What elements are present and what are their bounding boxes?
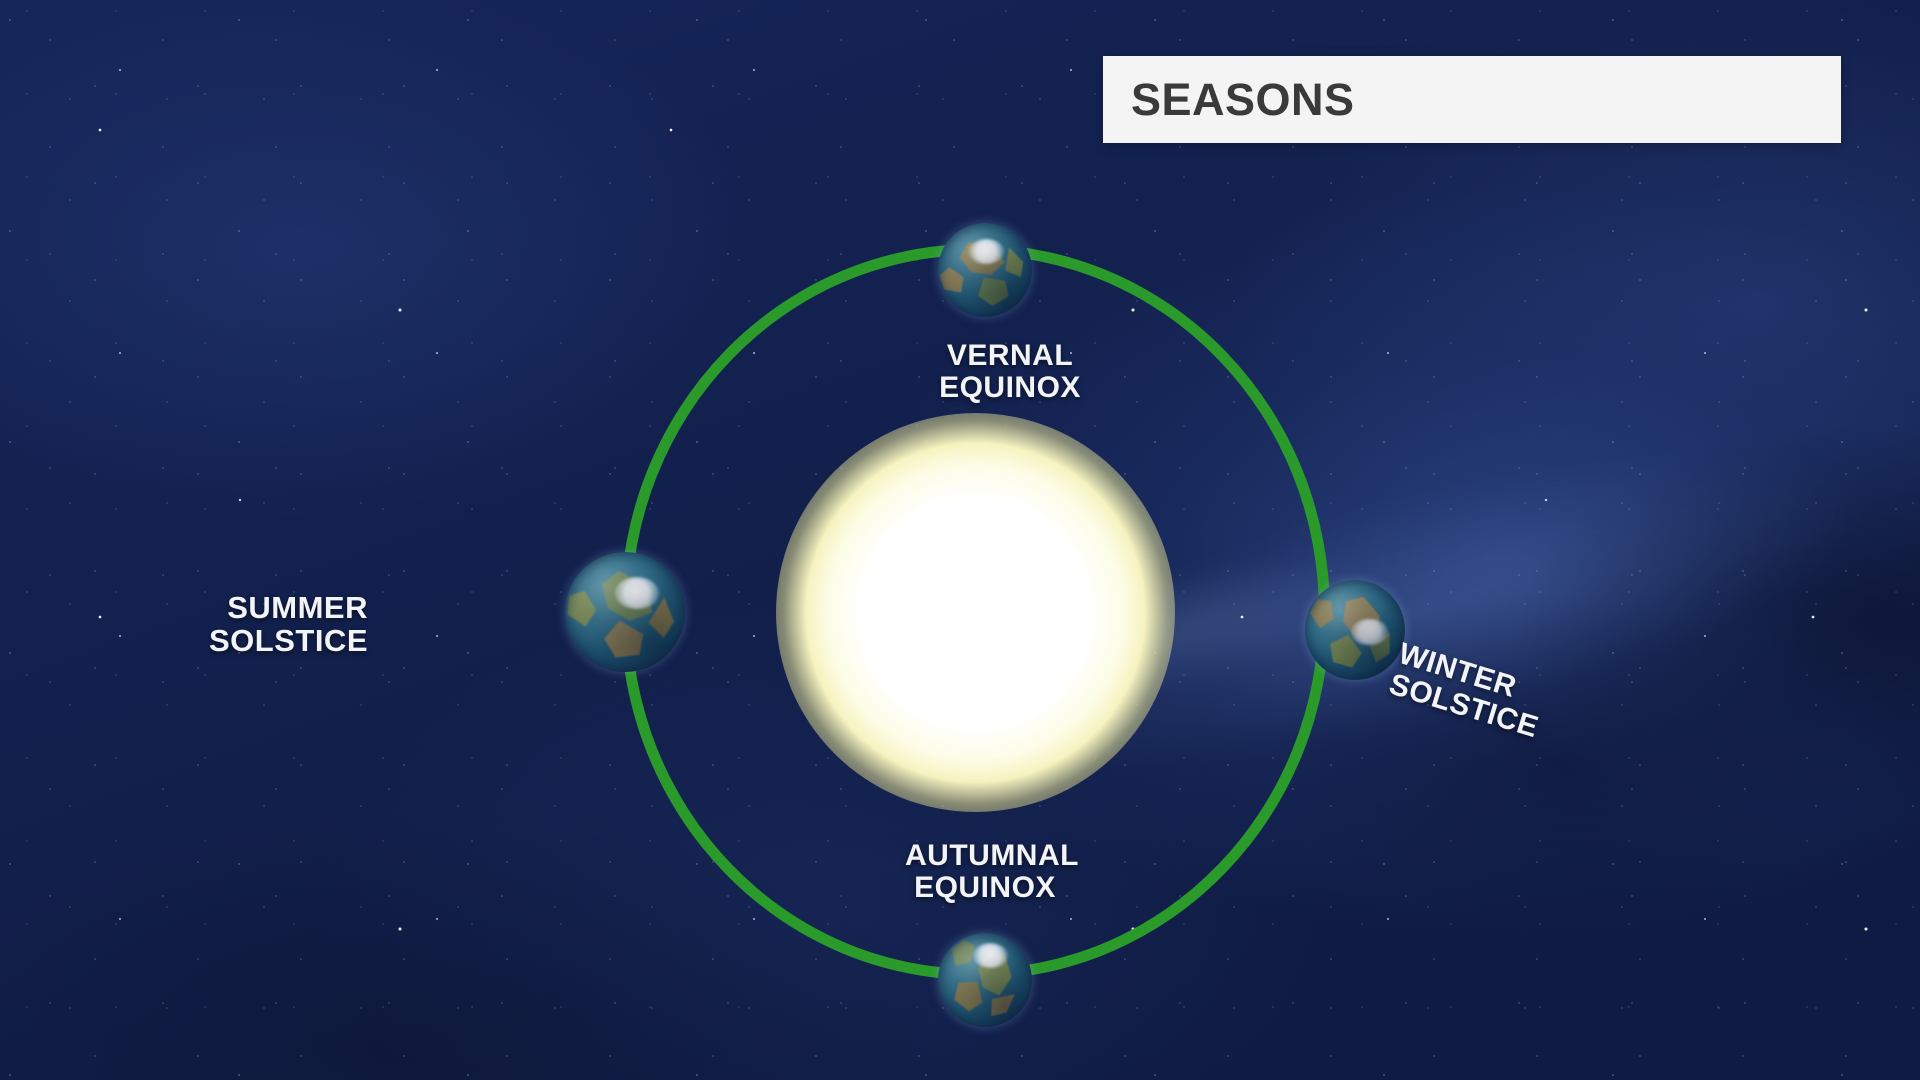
earth-globe-vernal-equinox [938, 223, 1032, 317]
earth-globe-winter-solstice [1305, 580, 1405, 680]
globe-rim [938, 223, 1032, 317]
sun [776, 413, 1175, 812]
title-banner: SEASONS [1103, 56, 1841, 143]
page-title: SEASONS [1131, 74, 1355, 126]
globe-rim [1305, 580, 1405, 680]
globe-rim [565, 552, 685, 672]
seasons-diagram: VERNAL EQUINOXSUMMER SOLSTICEWINTER SOLS… [0, 0, 1920, 1080]
globe-rim [938, 933, 1032, 1027]
earth-globe-autumnal-equinox [938, 933, 1032, 1027]
earth-globe-summer-solstice [565, 552, 685, 672]
